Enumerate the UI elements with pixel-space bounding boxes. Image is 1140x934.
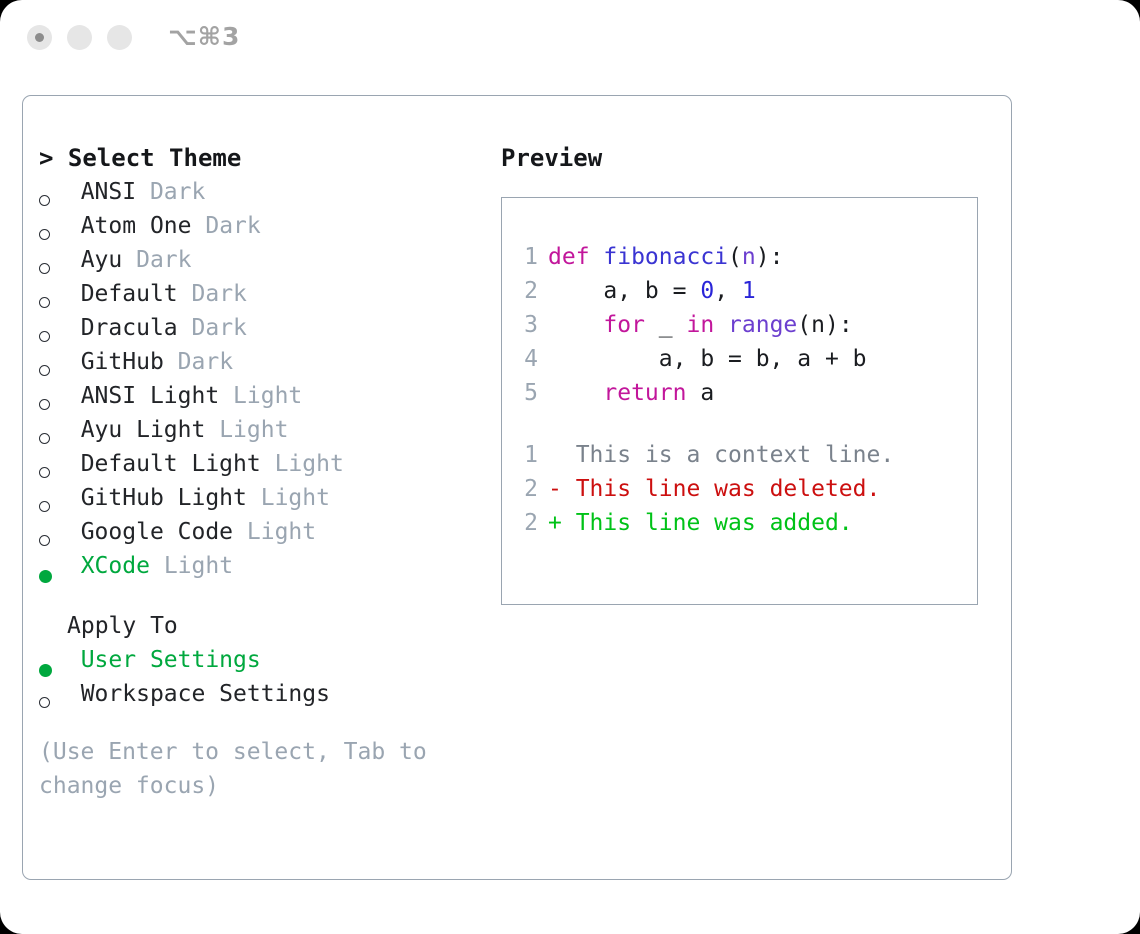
minimize-icon[interactable] [67, 25, 92, 50]
theme-list-item[interactable]: Default Dark [39, 277, 494, 311]
spacer [136, 179, 150, 205]
preview-box: 1def fibonacci(n):2 a, b = 0, 13 for _ i… [501, 197, 978, 605]
maximize-icon[interactable] [107, 25, 132, 50]
spacer [205, 417, 219, 443]
theme-list-item[interactable]: ANSI Light Light [39, 379, 494, 413]
code-token: fibonacci [603, 244, 728, 270]
code-line-number: 3 [516, 308, 538, 342]
diff-sample: 1 This is a context line.2- This line wa… [516, 438, 969, 540]
theme-list: ANSI Dark Atom One Dark Ayu Dark Default… [39, 175, 494, 583]
theme-variant-label: Dark [178, 349, 233, 375]
code-token: ( [728, 244, 742, 270]
diff-text: This line was added. [562, 510, 853, 536]
keyboard-hint: (Use Enter to select, Tab to change focu… [39, 735, 449, 803]
theme-variant-label: Dark [192, 281, 247, 307]
apply-to-option-label: User Settings [81, 647, 261, 673]
diff-line-number: 2 [516, 506, 538, 540]
code-token: range [728, 312, 797, 338]
theme-name: ANSI [81, 179, 136, 205]
theme-name: Ayu Light [81, 417, 206, 443]
theme-list-item[interactable]: GitHub Dark [39, 345, 494, 379]
spacer [53, 417, 81, 443]
theme-variant-label: Light [219, 417, 288, 443]
theme-variant-label: Dark [205, 213, 260, 239]
title-bar: ⌥⌘3 [0, 0, 1140, 78]
code-line: 1def fibonacci(n): [516, 240, 969, 274]
code-token [548, 380, 603, 406]
diff-line: 1 This is a context line. [516, 438, 969, 472]
theme-variant-label: Light [233, 383, 302, 409]
diff-sign: - [548, 476, 562, 502]
code-token: in [686, 312, 714, 338]
diff-text: This is a context line. [562, 442, 894, 468]
diff-line-number: 2 [516, 472, 538, 506]
apply-to-list: User Settings Workspace Settings [39, 643, 494, 711]
spacer [219, 383, 233, 409]
code-line-number: 2 [516, 274, 538, 308]
close-icon[interactable] [27, 25, 52, 50]
theme-variant-label: Light [164, 553, 233, 579]
theme-variant-label: Dark [192, 315, 247, 341]
spacer [53, 485, 81, 511]
code-token: 1 [742, 278, 756, 304]
code-token [714, 312, 728, 338]
theme-variant-label: Dark [136, 247, 191, 273]
theme-selector: > Select Theme ANSI Dark Atom One Dark A… [39, 141, 494, 803]
diff-line: 2+ This line was added. [516, 506, 969, 540]
code-token: for [603, 312, 645, 338]
spacer [53, 179, 81, 205]
keyboard-hint-line-2: change focus) [39, 769, 449, 803]
theme-variant-label: Dark [150, 179, 205, 205]
apply-to-option-label: Workspace Settings [81, 681, 330, 707]
theme-name: XCode [81, 553, 150, 579]
code-token: return [603, 380, 686, 406]
spacer [53, 681, 81, 707]
diff-text: This line was deleted. [562, 476, 881, 502]
spacer [53, 519, 81, 545]
spacer [261, 451, 275, 477]
spacer [122, 247, 136, 273]
theme-name: Google Code [81, 519, 233, 545]
spacer [233, 519, 247, 545]
spacer [53, 213, 81, 239]
theme-variant-label: Light [275, 451, 344, 477]
theme-list-item[interactable]: Dracula Dark [39, 311, 494, 345]
spacer [150, 553, 164, 579]
theme-name: Ayu [81, 247, 123, 273]
code-line-number: 5 [516, 376, 538, 410]
apply-to-option[interactable]: Workspace Settings [39, 677, 494, 711]
code-token: a [686, 380, 714, 406]
theme-name: GitHub [81, 349, 164, 375]
keyboard-shortcut-label: ⌥⌘3 [168, 22, 240, 51]
preview-header: Preview [501, 141, 991, 175]
spacer [53, 247, 81, 273]
spacer [178, 281, 192, 307]
code-line-number: 1 [516, 240, 538, 274]
theme-variant-label: Light [261, 485, 330, 511]
main-panel: > Select Theme ANSI Dark Atom One Dark A… [22, 95, 1012, 880]
keyboard-hint-line-1: (Use Enter to select, Tab to [39, 735, 449, 769]
apply-to-option[interactable]: User Settings [39, 643, 494, 677]
theme-name: GitHub Light [81, 485, 247, 511]
spacer [53, 553, 81, 579]
app-window: ⌥⌘3 > Select Theme ANSI Dark Atom One Da… [0, 0, 1140, 934]
code-token: , [714, 278, 742, 304]
code-line: 4 a, b = b, a + b [516, 342, 969, 376]
code-token: a, b = [548, 278, 700, 304]
code-token: ): [756, 244, 784, 270]
diff-line: 2- This line was deleted. [516, 472, 969, 506]
theme-name: Default [81, 281, 178, 307]
code-token: _ [645, 312, 687, 338]
code-line-number: 4 [516, 342, 538, 376]
code-line: 2 a, b = 0, 1 [516, 274, 969, 308]
code-sample: 1def fibonacci(n):2 a, b = 0, 13 for _ i… [516, 240, 969, 410]
spacer [53, 647, 81, 673]
code-token: n [742, 244, 756, 270]
theme-variant-label: Light [247, 519, 316, 545]
spacer [178, 315, 192, 341]
spacer [191, 213, 205, 239]
theme-list-item[interactable]: Atom One Dark [39, 209, 494, 243]
apply-to-header: Apply To [39, 609, 494, 643]
code-token: 0 [700, 278, 714, 304]
spacer [247, 485, 261, 511]
spacer [53, 349, 81, 375]
select-theme-header: > Select Theme [39, 141, 494, 175]
spacer [53, 451, 81, 477]
theme-name: Default Light [81, 451, 261, 477]
code-token: a, b = b, a + b [548, 346, 867, 372]
code-token [548, 312, 603, 338]
diff-sign [548, 442, 562, 468]
diff-line-number: 1 [516, 438, 538, 472]
spacer [164, 349, 178, 375]
code-line: 3 for _ in range(n): [516, 308, 969, 342]
theme-name: Dracula [81, 315, 178, 341]
diff-sign: + [548, 510, 562, 536]
spacer [53, 281, 81, 307]
apply-to-section: Apply To User Settings Workspace Setting… [39, 609, 494, 711]
theme-name: Atom One [81, 213, 192, 239]
theme-list-item[interactable]: Ayu Dark [39, 243, 494, 277]
theme-list-item[interactable]: Google Code Light [39, 515, 494, 549]
spacer [53, 315, 81, 341]
code-line: 5 return a [516, 376, 969, 410]
code-token: (n): [797, 312, 852, 338]
theme-list-item[interactable]: Default Light Light [39, 447, 494, 481]
theme-list-item[interactable]: Ayu Light Light [39, 413, 494, 447]
code-token: def [548, 244, 603, 270]
theme-name: ANSI Light [81, 383, 219, 409]
theme-list-item[interactable]: XCode Light [39, 549, 494, 583]
preview-panel: Preview 1def fibonacci(n):2 a, b = 0, 13… [501, 141, 991, 605]
theme-list-item[interactable]: GitHub Light Light [39, 481, 494, 515]
theme-list-item[interactable]: ANSI Dark [39, 175, 494, 209]
spacer [53, 383, 81, 409]
